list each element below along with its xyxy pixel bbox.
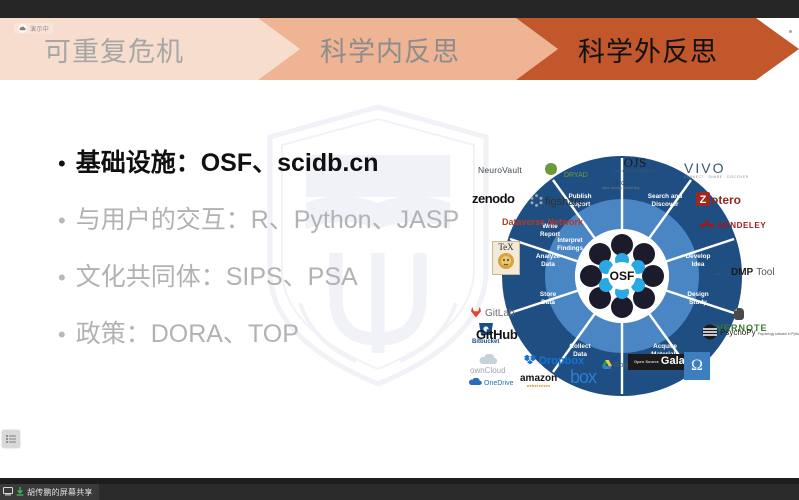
logo-dryad: DRYAD: [540, 162, 588, 179]
google-drive-icon: [602, 360, 612, 371]
logo-ojs-label: OJS: [614, 156, 656, 170]
logo-mendeley: MENDELEY: [700, 220, 766, 231]
bullet-list: • 基础设施：OSF、scidb.cn • 与用户的交互：R、Python、JA…: [58, 143, 458, 371]
svg-text:Data: Data: [541, 261, 555, 268]
dryad-icon: [540, 172, 564, 179]
bullet-marker: •: [58, 153, 66, 175]
logo-dataverse-network: Dataverse Network: [502, 218, 583, 227]
bullet-text: 基础设施：OSF、scidb.cn: [76, 143, 379, 179]
evernote-elephant-icon: [710, 306, 768, 324]
list-item: • 与用户的交互：R、Python、JASP: [58, 200, 458, 236]
logo-aws-label: amazon: [520, 373, 557, 384]
mendeley-icon: [700, 220, 714, 231]
bullet-text: 文化共同体：SIPS、PSA: [76, 257, 358, 293]
lion-icon: [496, 252, 516, 272]
logo-zotero: Z otero: [696, 192, 741, 209]
screen-share-window: 可重复危机 科学内反思 科学外反思 演示中: [0, 0, 799, 500]
logo-gitlab-label: GitLab: [485, 309, 514, 320]
logo-dryad-label: DRYAD: [564, 172, 588, 179]
svg-text:Data: Data: [541, 299, 555, 306]
onedrive-icon: [468, 378, 482, 388]
svg-text:Interpret: Interpret: [557, 237, 582, 244]
logo-zenodo: zenodo: [472, 192, 515, 206]
list-item: • 文化共同体：SIPS、PSA: [58, 257, 458, 293]
svg-text:Idea: Idea: [692, 261, 705, 268]
svg-text:Z: Z: [700, 194, 707, 206]
menu-icon: [6, 435, 16, 443]
progress-chevron-banner: 可重复危机 科学内反思 科学外反思 演示中: [0, 18, 799, 80]
logo-ojs: OJS Open Journal Systems: [614, 156, 656, 173]
owncloud-icon: [470, 354, 506, 367]
zotero-icon: Z: [696, 192, 710, 209]
corner-dot-icon: [789, 30, 792, 33]
logo-neurovault: NeuroVault: [478, 166, 522, 175]
chevron-step-1-label: 可重复危机: [44, 30, 184, 69]
logo-dmptool-suffix: Tool: [756, 268, 774, 279]
osf-research-lifecycle-figure: OSF PublishReport Search andDiscover Dev…: [462, 136, 782, 406]
cloud-icon: [18, 24, 27, 33]
logo-ojs-sub: Open Journal Systems: [614, 170, 656, 174]
svg-text:Collect: Collect: [569, 343, 591, 350]
chevron-step-3: 科学外反思: [516, 18, 799, 80]
logo-figshare: figshare: [530, 194, 584, 211]
monitor-icon: [3, 483, 13, 500]
logo-github: GitHub: [476, 328, 518, 342]
presentation-slide: 可重复危机 科学内反思 科学外反思 演示中: [0, 18, 799, 478]
logo-onedrive: OneDrive: [468, 378, 514, 388]
logo-tex-label: TeX: [498, 243, 513, 252]
dmptool-leaf-icon: [714, 266, 728, 280]
logo-vivo: VIVO CONNECT · SHARE · DISCOVER: [684, 161, 749, 179]
bullet-text: 与用户的交互：R、Python、JASP: [76, 200, 459, 236]
logo-dropbox-label: Dropbox: [539, 356, 584, 368]
psychopy-icon: [702, 324, 718, 342]
taskbar-screen-share-label: 胡传鹏的屏幕共享: [27, 487, 93, 498]
logo-onedrive-label: OneDrive: [484, 380, 514, 387]
svg-text:Discover: Discover: [652, 201, 680, 208]
logo-amazon-web-services: amazon webservices: [520, 374, 557, 388]
logo-ubiquity-sub: open access publishing: [602, 187, 655, 191]
logo-owncloud: ownCloud: [470, 354, 506, 376]
top-chrome-bar: [0, 0, 799, 18]
logo-zotero-label: otero: [711, 194, 741, 207]
logo-psychopy-sub: Psychology software in Python: [758, 332, 799, 336]
bullet-text: 政策：DORA、TOP: [76, 314, 299, 350]
bullet-marker: •: [58, 324, 66, 346]
download-arrow-icon: [16, 483, 24, 500]
presenting-badge-label: 演示中: [30, 24, 49, 33]
svg-text:Store: Store: [540, 291, 557, 298]
logo-owncloud-label: ownCloud: [470, 366, 506, 375]
bullet-marker: •: [58, 210, 66, 232]
logo-vivo-label: VIVO: [684, 160, 725, 176]
logo-psychopy-label: PsychoPy: [720, 328, 756, 337]
svg-text:Study: Study: [689, 299, 707, 306]
gitlab-fox-icon: [470, 306, 482, 322]
logo-psychopy: PsychoPy Psychology software in Python: [702, 324, 799, 342]
taskbar: 胡传鹏的屏幕共享: [0, 484, 799, 500]
svg-text:Search and: Search and: [648, 193, 683, 200]
dropbox-icon: [524, 354, 536, 370]
chevron-step-3-label: 科学外反思: [578, 30, 718, 69]
svg-text:Acquire: Acquire: [653, 343, 677, 350]
chevron-step-2-label: 科学内反思: [320, 30, 460, 69]
logo-tex: TeX: [492, 241, 520, 275]
logo-vivo-sub: CONNECT · SHARE · DISCOVER: [684, 176, 749, 179]
bullet-marker: •: [58, 267, 66, 289]
logo-open-science-collaboration: Ω: [684, 352, 710, 380]
svg-text:Develop: Develop: [686, 253, 711, 260]
list-item: • 政策：DORA、TOP: [58, 314, 458, 350]
logo-gitlab: GitLab: [470, 306, 514, 322]
logo-galaxy-prefix: Open Source: [634, 360, 659, 364]
logo-ubiquity-press: [u] ubiquity press open access publishin…: [602, 180, 655, 191]
logo-dmptool-label: DMP: [731, 268, 753, 279]
taskbar-screen-share-item[interactable]: 胡传鹏的屏幕共享: [0, 484, 99, 500]
svg-text:OSF: OSF: [610, 269, 635, 283]
svg-text:Analyze: Analyze: [536, 253, 561, 260]
svg-text:Findings: Findings: [557, 245, 583, 252]
logo-box: box: [570, 368, 596, 387]
chevron-step-2: 科学内反思: [258, 18, 558, 80]
list-item: • 基础设施：OSF、scidb.cn: [58, 143, 458, 179]
presenting-badge: 演示中: [14, 23, 53, 34]
logo-osc-label: Ω: [691, 358, 703, 375]
logo-aws-sub: webservices: [520, 385, 557, 389]
slide-menu-button[interactable]: [2, 430, 20, 448]
figshare-icon: [530, 194, 543, 211]
svg-text:Design: Design: [687, 291, 708, 298]
logo-mendeley-label: MENDELEY: [717, 222, 766, 230]
logo-dmptool: DMP Tool: [714, 266, 775, 280]
logo-figshare-label: figshare: [545, 197, 584, 209]
svg-text:Report: Report: [540, 231, 560, 238]
